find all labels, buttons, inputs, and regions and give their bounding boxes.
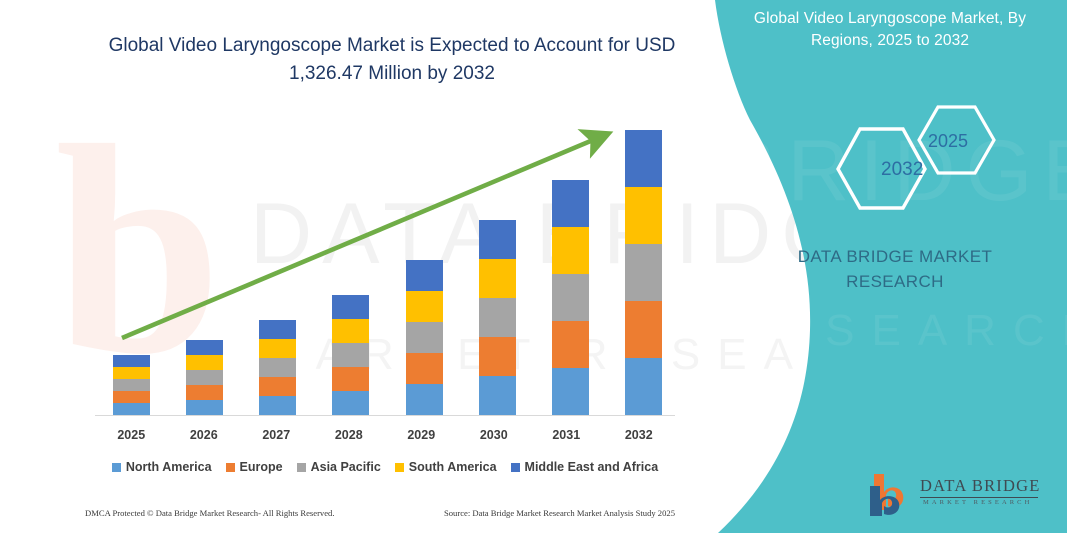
x-axis-label-2027: 2027 [240,428,313,442]
legend-label: Asia Pacific [311,460,381,474]
company-logo: DATA BRIDGE MARKET RESEARCH [868,472,1043,520]
bar-segment-south-america[interactable] [552,227,589,274]
bar-chart-plot [95,120,680,415]
bar-segment-south-america[interactable] [406,291,443,322]
footer-copyright: DMCA Protected © Data Bridge Market Rese… [85,508,335,518]
stacked-bar[interactable] [406,260,443,415]
logo-mark-icon [868,472,916,516]
stacked-bar[interactable] [552,180,589,415]
x-axis-label-2028: 2028 [313,428,386,442]
bar-column-2025 [95,120,168,415]
legend-label: Middle East and Africa [525,460,659,474]
bar-segment-south-america[interactable] [113,367,150,379]
bar-segment-europe[interactable] [186,385,223,400]
bar-segment-asia-pacific[interactable] [625,244,662,301]
stacked-bar[interactable] [259,320,296,415]
bar-segment-north-america[interactable] [259,396,296,415]
bar-column-2027 [241,120,314,415]
bar-segment-middle-east-and-africa[interactable] [332,295,369,319]
legend-item-middle-east-and-africa[interactable]: Middle East and Africa [511,460,659,474]
hex-badge-label-2025: 2025 [928,131,968,151]
svg-text:RESEARCH: RESEARCH [730,306,1067,355]
bar-segment-europe[interactable] [625,301,662,358]
bar-segment-middle-east-and-africa[interactable] [406,260,443,291]
legend-swatch-icon [297,463,306,472]
chart-legend: North AmericaEuropeAsia PacificSouth Ame… [95,460,675,474]
bar-segment-europe[interactable] [406,353,443,384]
stacked-bar[interactable] [186,340,223,415]
bar-segment-middle-east-and-africa[interactable] [259,320,296,339]
bar-segment-europe[interactable] [332,367,369,391]
legend-label: Europe [240,460,283,474]
legend-item-south-america[interactable]: South America [395,460,497,474]
legend-swatch-icon [395,463,404,472]
bar-column-2032 [607,120,680,415]
bar-segment-north-america[interactable] [406,384,443,415]
legend-swatch-icon [226,463,235,472]
stacked-bar[interactable] [332,295,369,415]
bar-segment-asia-pacific[interactable] [113,379,150,391]
legend-swatch-icon [511,463,520,472]
bar-segment-north-america[interactable] [186,400,223,415]
logo-name: DATA BRIDGE [920,476,1041,496]
stacked-bar[interactable] [479,220,516,415]
bar-segment-europe[interactable] [479,337,516,376]
bar-segment-middle-east-and-africa[interactable] [186,340,223,355]
x-axis-label-2032: 2032 [603,428,676,442]
panel-brand-text: DATA BRIDGE MARKET RESEARCH [760,244,1030,294]
x-axis-label-2030: 2030 [458,428,531,442]
bar-segment-south-america[interactable] [479,259,516,298]
stacked-bar[interactable] [113,355,150,415]
legend-label: North America [126,460,212,474]
panel-title: Global Video Laryngoscope Market, By Reg… [730,8,1050,52]
bar-segment-asia-pacific[interactable] [552,274,589,321]
bar-segment-middle-east-and-africa[interactable] [113,355,150,367]
bar-segment-asia-pacific[interactable] [259,358,296,377]
infographic-canvas: b DATA BRIDGE MARKET RESEARCH BRIDGE RES… [0,0,1067,533]
bar-column-2029 [388,120,461,415]
bar-segment-south-america[interactable] [625,187,662,244]
legend-swatch-icon [112,463,121,472]
bar-segment-asia-pacific[interactable] [186,370,223,385]
x-axis-labels: 20252026202720282029203020312032 [95,428,675,442]
bar-segment-europe[interactable] [552,321,589,368]
bar-segment-europe[interactable] [259,377,296,396]
hex-badges: 2032 2025 [820,95,1010,210]
x-axis-line [95,415,675,416]
footer: DMCA Protected © Data Bridge Market Rese… [85,508,675,518]
bar-segment-asia-pacific[interactable] [332,343,369,367]
legend-label: South America [409,460,497,474]
logo-divider [920,497,1038,498]
bar-segment-north-america[interactable] [479,376,516,415]
bar-segment-middle-east-and-africa[interactable] [625,130,662,187]
bar-segment-south-america[interactable] [332,319,369,343]
bar-segment-north-america[interactable] [113,403,150,415]
bar-segment-europe[interactable] [113,391,150,403]
bar-column-2031 [534,120,607,415]
bar-segment-north-america[interactable] [552,368,589,415]
bar-segment-middle-east-and-africa[interactable] [479,220,516,259]
legend-item-asia-pacific[interactable]: Asia Pacific [297,460,381,474]
logo-tagline: MARKET RESEARCH [923,499,1032,506]
bar-segment-north-america[interactable] [332,391,369,415]
footer-source: Source: Data Bridge Market Research Mark… [444,508,675,518]
x-axis-label-2031: 2031 [530,428,603,442]
x-axis-label-2029: 2029 [385,428,458,442]
bar-segment-north-america[interactable] [625,358,662,415]
page-title: Global Video Laryngoscope Market is Expe… [92,32,692,88]
bar-segment-south-america[interactable] [186,355,223,370]
bar-segment-south-america[interactable] [259,339,296,358]
x-axis-label-2026: 2026 [168,428,241,442]
bar-column-2026 [168,120,241,415]
legend-item-north-america[interactable]: North America [112,460,212,474]
bar-segment-middle-east-and-africa[interactable] [552,180,589,227]
bar-column-2030 [461,120,534,415]
bar-segment-asia-pacific[interactable] [479,298,516,337]
legend-item-europe[interactable]: Europe [226,460,283,474]
hex-badge-label-2032: 2032 [881,159,923,180]
bar-column-2028 [314,120,387,415]
stacked-bar[interactable] [625,130,662,415]
bar-segment-asia-pacific[interactable] [406,322,443,353]
x-axis-label-2025: 2025 [95,428,168,442]
